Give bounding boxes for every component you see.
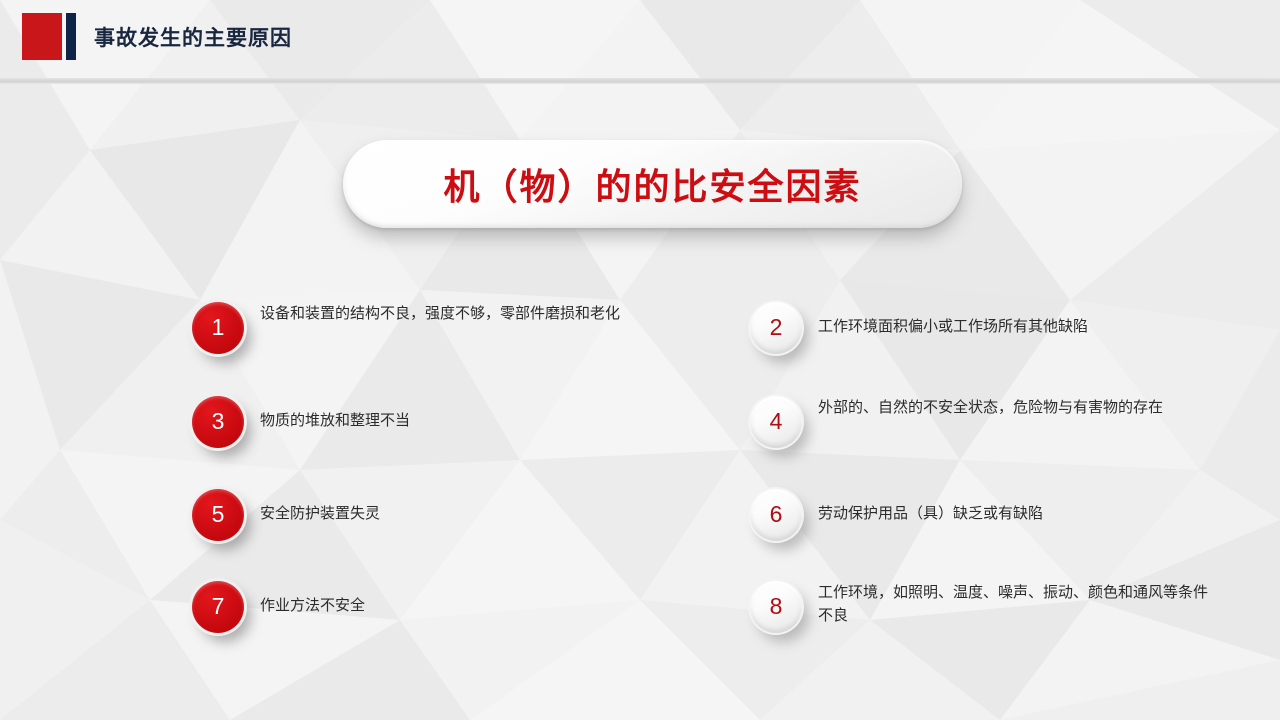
item-text: 安全防护装置失灵 [260,489,660,525]
factor-list: 1 设备和装置的结构不良，强度不够，零部件磨损和老化 2 工作环境面积偏小或工作… [0,0,1280,720]
item-number: 2 [770,316,783,339]
item-text: 工作环境面积偏小或工作场所有其他缺陷 [818,302,1218,338]
list-item[interactable]: 4 外部的、自然的不安全状态，危险物与有害物的存在 [750,396,1220,448]
item-text: 物质的堆放和整理不当 [260,396,660,432]
item-text: 劳动保护用品（具）缺乏或有缺陷 [818,489,1218,525]
item-number: 5 [212,503,225,526]
list-item[interactable]: 1 设备和装置的结构不良，强度不够，零部件磨损和老化 [192,302,672,354]
list-item[interactable]: 2 工作环境面积偏小或工作场所有其他缺陷 [750,302,1220,354]
item-text: 设备和装置的结构不良，强度不够，零部件磨损和老化 [260,302,660,325]
item-number: 6 [770,503,783,526]
list-item[interactable]: 7 作业方法不安全 [192,581,672,633]
item-number-badge: 3 [192,396,244,448]
item-number: 7 [212,595,225,618]
item-number: 8 [770,595,783,618]
item-number: 3 [212,410,225,433]
list-item[interactable]: 6 劳动保护用品（具）缺乏或有缺陷 [750,489,1220,541]
list-item[interactable]: 8 工作环境，如照明、温度、噪声、振动、颜色和通风等条件不良 [750,581,1220,633]
item-number-badge: 2 [750,302,802,354]
list-item[interactable]: 3 物质的堆放和整理不当 [192,396,672,448]
item-text: 工作环境，如照明、温度、噪声、振动、颜色和通风等条件不良 [818,581,1218,626]
item-number-badge: 5 [192,489,244,541]
item-number-badge: 1 [192,302,244,354]
item-number-badge: 8 [750,581,802,633]
item-number: 4 [770,410,783,433]
item-text: 作业方法不安全 [260,581,660,617]
item-number-badge: 6 [750,489,802,541]
item-number-badge: 7 [192,581,244,633]
item-text: 外部的、自然的不安全状态，危险物与有害物的存在 [818,396,1218,419]
list-item[interactable]: 5 安全防护装置失灵 [192,489,672,541]
slide-canvas: 事故发生的主要原因 机（物）的的比安全因素 1 设备和装置的结构不良，强度不够，… [0,0,1280,720]
item-number-badge: 4 [750,396,802,448]
item-number: 1 [212,316,225,339]
